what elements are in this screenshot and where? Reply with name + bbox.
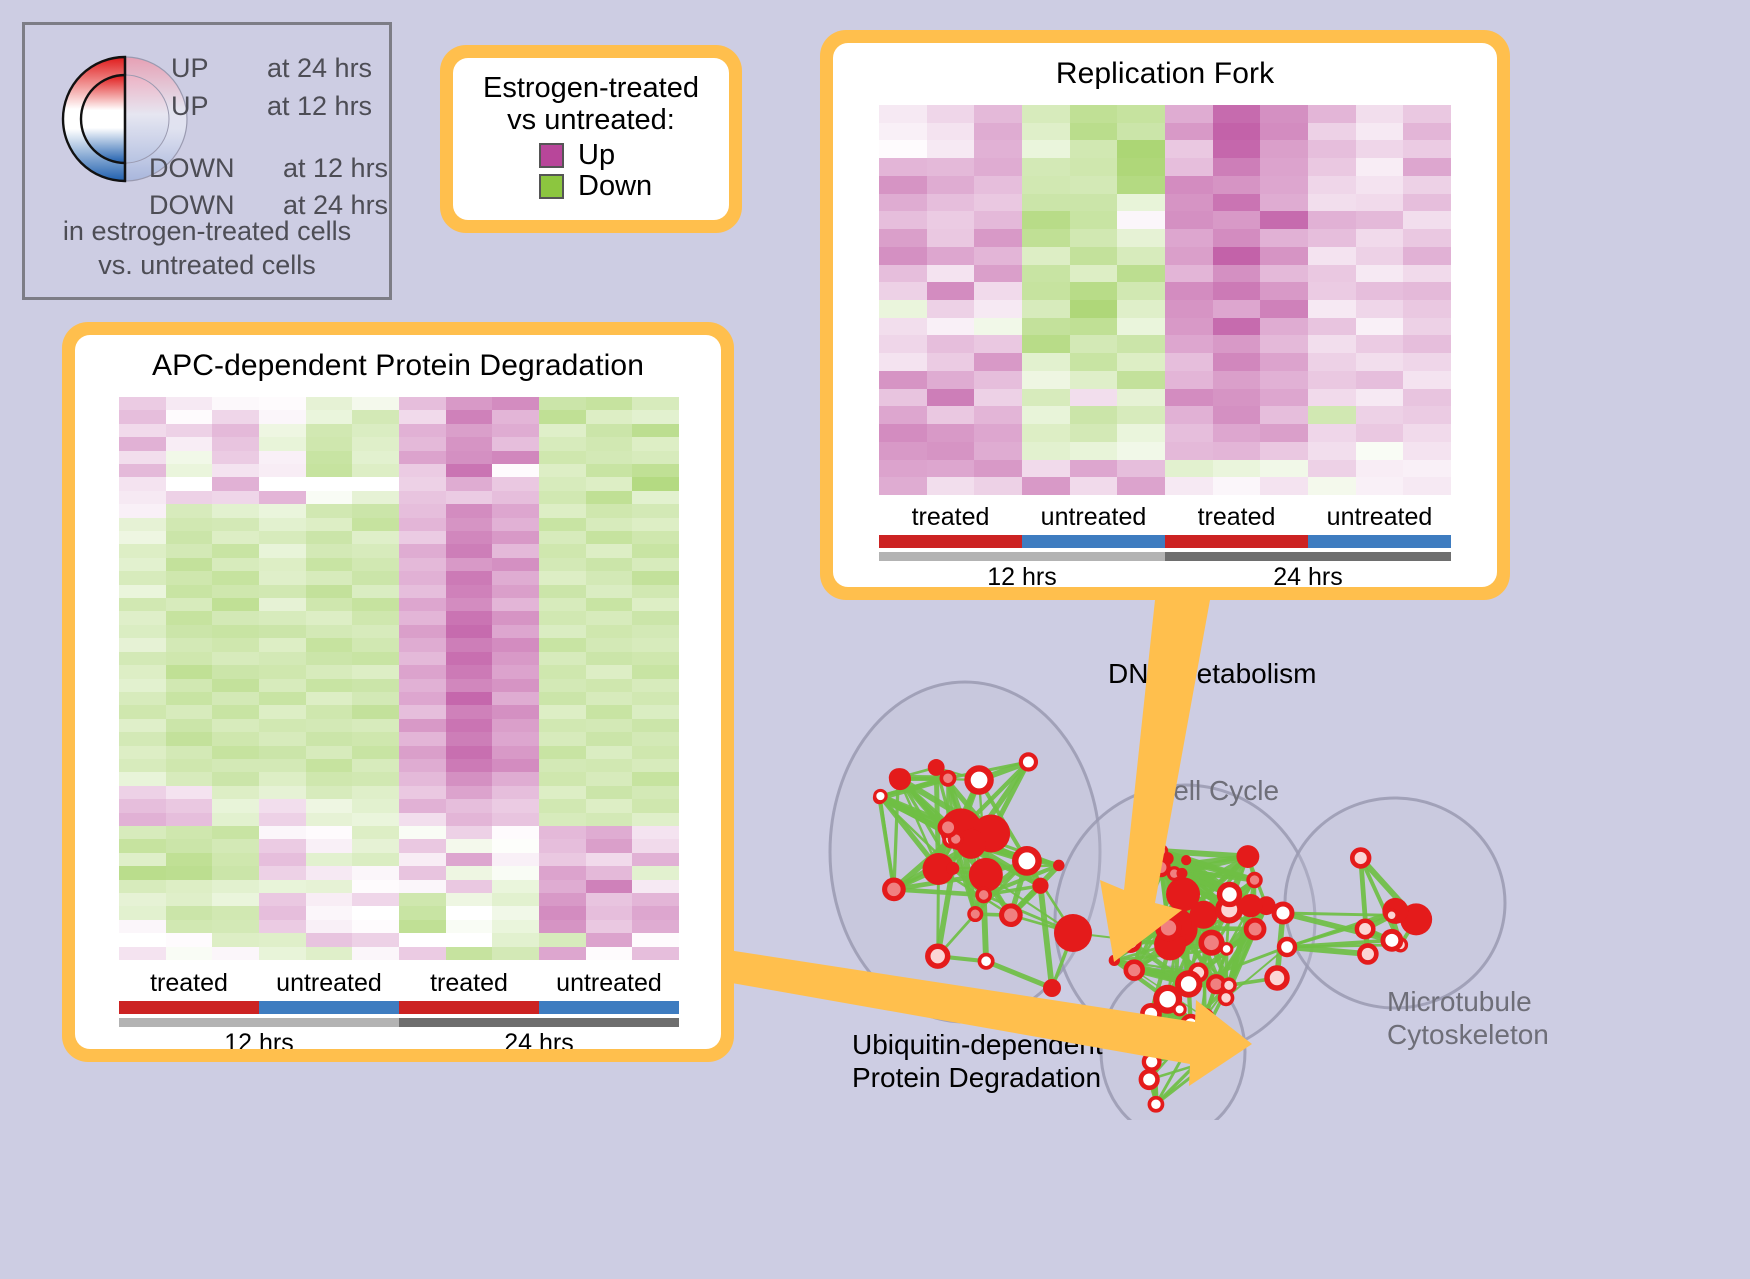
replication-fork-title: Replication Fork	[833, 43, 1497, 91]
apc-time-label-1: 24 hrs	[399, 1029, 679, 1049]
rep-group-label-0: treated	[879, 503, 1022, 532]
cluster-label-ubiquitin-line2: Protein Degradation	[852, 1061, 1103, 1094]
cluster-label-cell-cycle: Cell Cycle	[1153, 775, 1279, 807]
figure-canvas: UP at 24 hrs UP at 12 hrs DOWN at 12 hrs…	[0, 0, 1750, 1279]
rep-bar-untreated-24	[1308, 535, 1451, 548]
legend-title-line1: Estrogen-treated	[453, 72, 729, 104]
cluster-label-dna-metabolism: DNA Metabolism	[1108, 658, 1317, 690]
apc-group-label-3: untreated	[539, 969, 679, 998]
key-time-0: at 24 hrs	[267, 53, 372, 84]
rep-time-label-1: 24 hrs	[1165, 563, 1451, 587]
apc-bar-12hrs	[119, 1018, 399, 1027]
legend-title: Estrogen-treated vs untreated:	[453, 72, 729, 137]
rep-bar-treated-24	[1165, 535, 1308, 548]
cluster-label-ubiquitin-line1: Ubiquitin-dependent	[852, 1028, 1103, 1061]
apc-time-bar	[119, 1018, 679, 1027]
key-time-1: at 12 hrs	[267, 91, 372, 122]
apc-bar-untreated-12	[259, 1001, 399, 1014]
legend-items: Up Down	[453, 141, 729, 201]
down-swatch-icon	[539, 174, 564, 199]
apc-group-label-1: untreated	[259, 969, 399, 998]
rep-bar-untreated-12	[1022, 535, 1165, 548]
key-footer: in estrogen-treated cells vs. untreated …	[25, 215, 389, 283]
cluster-label-ubiquitin: Ubiquitin-dependent Protein Degradation	[852, 1028, 1103, 1094]
cluster-label-microtubule-line1: Microtubule	[1387, 985, 1549, 1018]
apc-heatmap	[119, 397, 679, 960]
rep-bar-treated-12	[879, 535, 1022, 548]
key-dir-2: DOWN	[149, 153, 234, 184]
rep-group-label-1: untreated	[1022, 503, 1165, 532]
gene-network-diagram: DNA Metabolism Cell Cycle Microtubule Cy…	[790, 620, 1560, 1120]
apc-group-label-0: treated	[119, 969, 259, 998]
key-time-2: at 12 hrs	[283, 153, 388, 184]
apc-bar-treated-12	[119, 1001, 259, 1014]
legend-item-down: Down	[539, 172, 729, 201]
replication-fork-heatmap	[879, 105, 1451, 495]
rep-time-labels: 12 hrs 24 hrs	[879, 563, 1451, 587]
rep-bar-12hrs	[879, 552, 1165, 561]
key-dir-1: UP	[171, 91, 209, 122]
apc-degradation-panel: APC-dependent Protein Degradation treate…	[62, 322, 734, 1062]
apc-group-labels: treated untreated treated untreated	[119, 969, 679, 998]
rep-time-label-0: 12 hrs	[879, 563, 1165, 587]
key-footer-line1: in estrogen-treated cells	[25, 215, 389, 249]
rep-bar-24hrs	[1165, 552, 1451, 561]
apc-group-label-2: treated	[399, 969, 539, 998]
replication-fork-panel: Replication Fork treated untreated treat…	[820, 30, 1510, 600]
apc-bar-untreated-24	[539, 1001, 679, 1014]
up-swatch-icon	[539, 143, 564, 168]
cluster-label-microtubule-line2: Cytoskeleton	[1387, 1018, 1549, 1051]
legend-title-line2: vs untreated:	[453, 104, 729, 136]
apc-bar-treated-24	[399, 1001, 539, 1014]
rep-time-bar	[879, 552, 1451, 561]
rep-treatment-bar	[879, 535, 1451, 548]
apc-time-label-0: 12 hrs	[119, 1029, 399, 1049]
apc-bar-24hrs	[399, 1018, 679, 1027]
legend-label-down: Down	[578, 172, 652, 201]
rep-group-label-2: treated	[1165, 503, 1308, 532]
key-footer-line2: vs. untreated cells	[25, 249, 389, 283]
key-dir-0: UP	[171, 53, 209, 84]
legend-label-up: Up	[578, 141, 615, 170]
rep-group-labels: treated untreated treated untreated	[879, 503, 1451, 532]
expression-key-box: UP at 24 hrs UP at 12 hrs DOWN at 12 hrs…	[22, 22, 392, 300]
apc-title: APC-dependent Protein Degradation	[75, 335, 721, 383]
apc-treatment-bar	[119, 1001, 679, 1014]
updown-legend-panel: Estrogen-treated vs untreated: Up Down	[440, 45, 742, 233]
cluster-label-microtubule: Microtubule Cytoskeleton	[1387, 985, 1549, 1051]
rep-group-label-3: untreated	[1308, 503, 1451, 532]
apc-time-labels: 12 hrs 24 hrs	[119, 1029, 679, 1049]
legend-item-up: Up	[539, 141, 729, 170]
